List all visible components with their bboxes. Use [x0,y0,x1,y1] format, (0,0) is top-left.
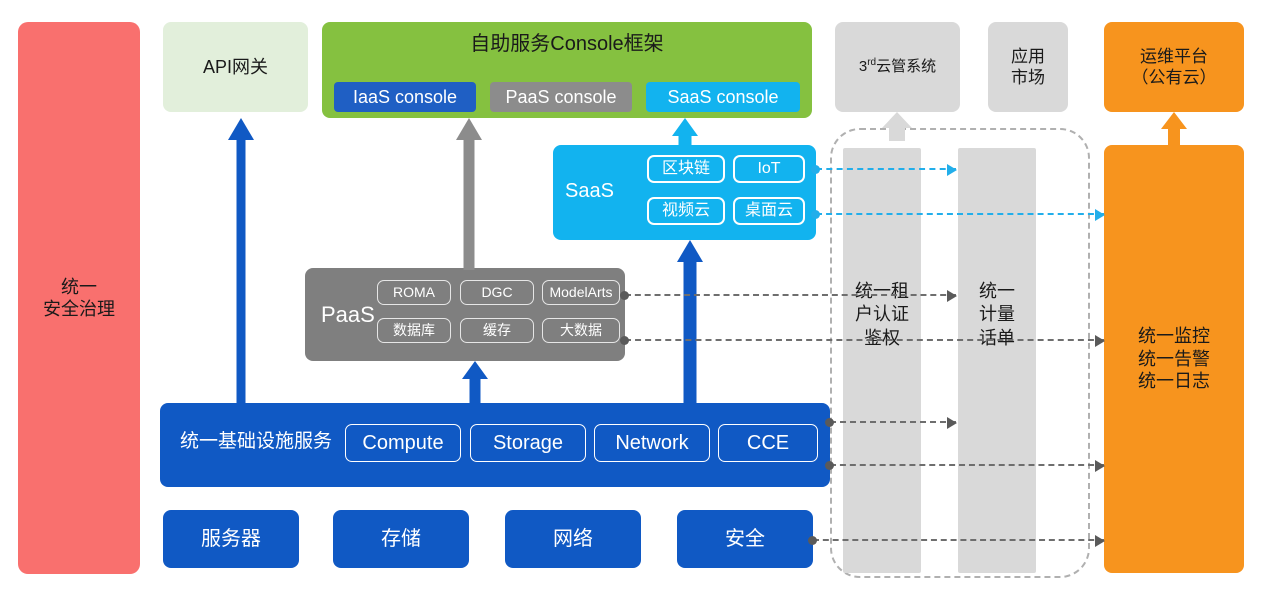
dashed-link-paas-to-ops-platform [625,339,1104,341]
paas-console-chip[interactable]: PaaS console [490,82,632,112]
third-party-cloud-management-box: 3rd云管系统 [835,22,960,112]
api-gateway-label: API网关 [203,56,268,79]
iaas-console-chip[interactable]: IaaS console [334,82,476,112]
api-gateway-box: API网关 [163,22,308,112]
arrowhead-icon [1095,335,1105,347]
ops-platform-public-cloud-box: 运维平台 （公有云） [1104,22,1244,112]
arrowhead-icon [1095,460,1105,472]
unified-security-governance-label: 统一 安全治理 [43,276,115,321]
dashed-link-saas-to-ops-platform [816,213,1104,215]
dashed-link-paas-to-tenant-auth [625,294,956,296]
arrowhead-icon [947,164,957,176]
arrow-paas-to-console [456,118,482,270]
saas-console-chip[interactable]: SaaS console [646,82,800,112]
arrow-saas-to-saas-console [672,118,698,147]
hardware-label-security: 安全 [725,527,765,552]
arrow-infra-to-api-gateway [228,118,254,404]
hardware-label-storage: 存储 [381,527,421,552]
link-dot [808,536,817,545]
infra-chip-storage[interactable]: Storage [470,424,586,462]
unified-infrastructure-service-label: 统一基础设施服务 [180,430,332,454]
link-dot [811,210,820,219]
link-dot [811,165,820,174]
dashed-link-saas-to-tenant-auth [816,168,956,170]
ops-platform-public-cloud-label: 运维平台 （公有云） [1132,46,1217,89]
hardware-box-security[interactable]: 安全 [677,510,813,568]
saas-layer-label: SaaS [565,179,614,204]
hardware-box-storage[interactable]: 存储 [333,510,469,568]
paas-chip-roma[interactable]: ROMA [377,280,451,305]
dashed-link-infra-to-ops-platform [830,464,1104,466]
dashed-link-infra-to-tenant-auth [830,421,956,423]
saas-layer-box: SaaS 区块链 IoT 视频云 桌面云 [553,145,816,240]
arrow-infra-to-paas [462,361,488,405]
infra-chip-network[interactable]: Network [594,424,710,462]
third-party-cloud-management-label: 3rd云管系统 [859,57,936,77]
arrow-shared-to-third-cloud [884,112,910,140]
hardware-label-network: 网络 [553,527,593,552]
self-service-console-framework: 自助服务Console框架 IaaS console PaaS console … [322,22,812,118]
architecture-diagram: 统一 安全治理 API网关 自助服务Console框架 IaaS console… [0,0,1265,605]
paas-chip-cache[interactable]: 缓存 [460,318,534,343]
hardware-box-network[interactable]: 网络 [505,510,641,568]
saas-chip-video-cloud[interactable]: 视频云 [647,197,725,225]
saas-chip-desktop-cloud[interactable]: 桌面云 [733,197,805,225]
arrowhead-icon [1095,535,1105,547]
saas-chip-iot[interactable]: IoT [733,155,805,183]
arrowhead-icon [1095,209,1105,221]
hardware-label-server: 服务器 [201,527,261,552]
unified-metering-billing-column: 统一 计量 话单 [958,148,1036,573]
ops-platform-monitoring-label: 统一监控 统一告警 统一日志 [1138,325,1210,393]
arrow-ops-main-to-ops-top [1161,112,1187,148]
ops-platform-monitoring-panel: 统一监控 统一告警 统一日志 [1104,145,1244,573]
hardware-box-server[interactable]: 服务器 [163,510,299,568]
app-market-box: 应用 市场 [988,22,1068,112]
link-dot [620,291,629,300]
paas-chip-database[interactable]: 数据库 [377,318,451,343]
paas-chip-dgc[interactable]: DGC [460,280,534,305]
link-dot [620,336,629,345]
arrowhead-icon [947,290,957,302]
arrowhead-icon [947,417,957,429]
unified-infrastructure-service-box: 统一基础设施服务 Compute Storage Network CCE [160,403,830,487]
link-dot [825,418,834,427]
saas-chip-blockchain[interactable]: 区块链 [647,155,725,183]
paas-chip-modelarts[interactable]: ModelArts [542,280,620,305]
console-framework-title: 自助服务Console框架 [322,32,812,57]
link-dot [825,461,834,470]
unified-security-governance-panel: 统一 安全治理 [18,22,140,574]
unified-tenant-auth-column: 统一租 户认证 鉴权 [843,148,921,573]
infra-chip-cce[interactable]: CCE [718,424,818,462]
paas-layer-box: PaaS ROMA DGC ModelArts 数据库 缓存 大数据 [305,268,625,361]
app-market-label: 应用 市场 [1011,46,1045,89]
paas-chip-bigdata[interactable]: 大数据 [542,318,620,343]
arrow-infra-to-saas [677,240,703,405]
dashed-link-hardware-to-ops-platform [813,539,1104,541]
paas-layer-label: PaaS [321,301,375,329]
infra-chip-compute[interactable]: Compute [345,424,461,462]
